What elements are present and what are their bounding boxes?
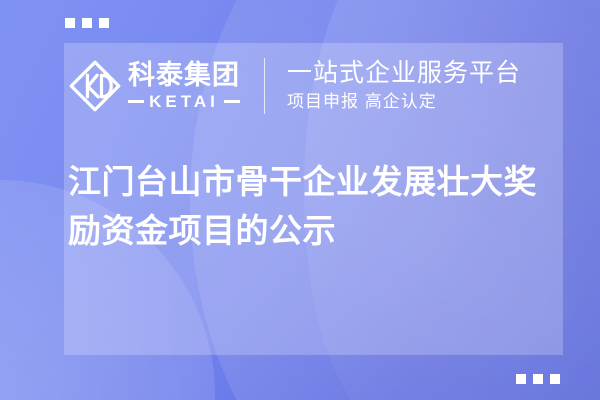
rule-left-icon bbox=[128, 100, 144, 103]
tagline-block: 一站式企业服务平台 项目申报 高企认定 bbox=[287, 59, 521, 114]
tagline-secondary: 项目申报 高企认定 bbox=[287, 91, 521, 113]
brand-logo[interactable]: 科泰集团 KETAI bbox=[68, 59, 240, 113]
decorative-dots-bottom-right bbox=[516, 374, 560, 384]
square-dot-icon bbox=[99, 18, 109, 28]
page-title: 江门台山市骨干企业发展壮大奖励资金项目的公示 bbox=[68, 158, 556, 256]
square-dot-icon bbox=[516, 374, 526, 384]
brand-wordmark: 科泰集团 KETAI bbox=[128, 62, 240, 110]
square-dot-icon bbox=[65, 18, 75, 28]
content-panel: 科泰集团 KETAI 一站式企业服务平台 项目申报 高企认定 江门台山市骨干企业… bbox=[64, 43, 563, 355]
square-dot-icon bbox=[550, 374, 560, 384]
brand-name-en-row: KETAI bbox=[128, 93, 240, 110]
brand-header: 科泰集团 KETAI 一站式企业服务平台 项目申报 高企认定 bbox=[64, 43, 563, 129]
square-dot-icon bbox=[82, 18, 92, 28]
rule-right-icon bbox=[224, 100, 240, 103]
tagline-primary: 一站式企业服务平台 bbox=[287, 59, 521, 88]
header-vertical-divider bbox=[264, 58, 265, 114]
kd-diamond-monogram-icon bbox=[68, 59, 122, 113]
brand-name-en: KETAI bbox=[149, 93, 219, 110]
square-dot-icon bbox=[533, 374, 543, 384]
promo-banner: 科泰集团 KETAI 一站式企业服务平台 项目申报 高企认定 江门台山市骨干企业… bbox=[0, 0, 600, 400]
brand-name-cn: 科泰集团 bbox=[128, 62, 240, 89]
decorative-dots-top-left bbox=[65, 18, 109, 28]
